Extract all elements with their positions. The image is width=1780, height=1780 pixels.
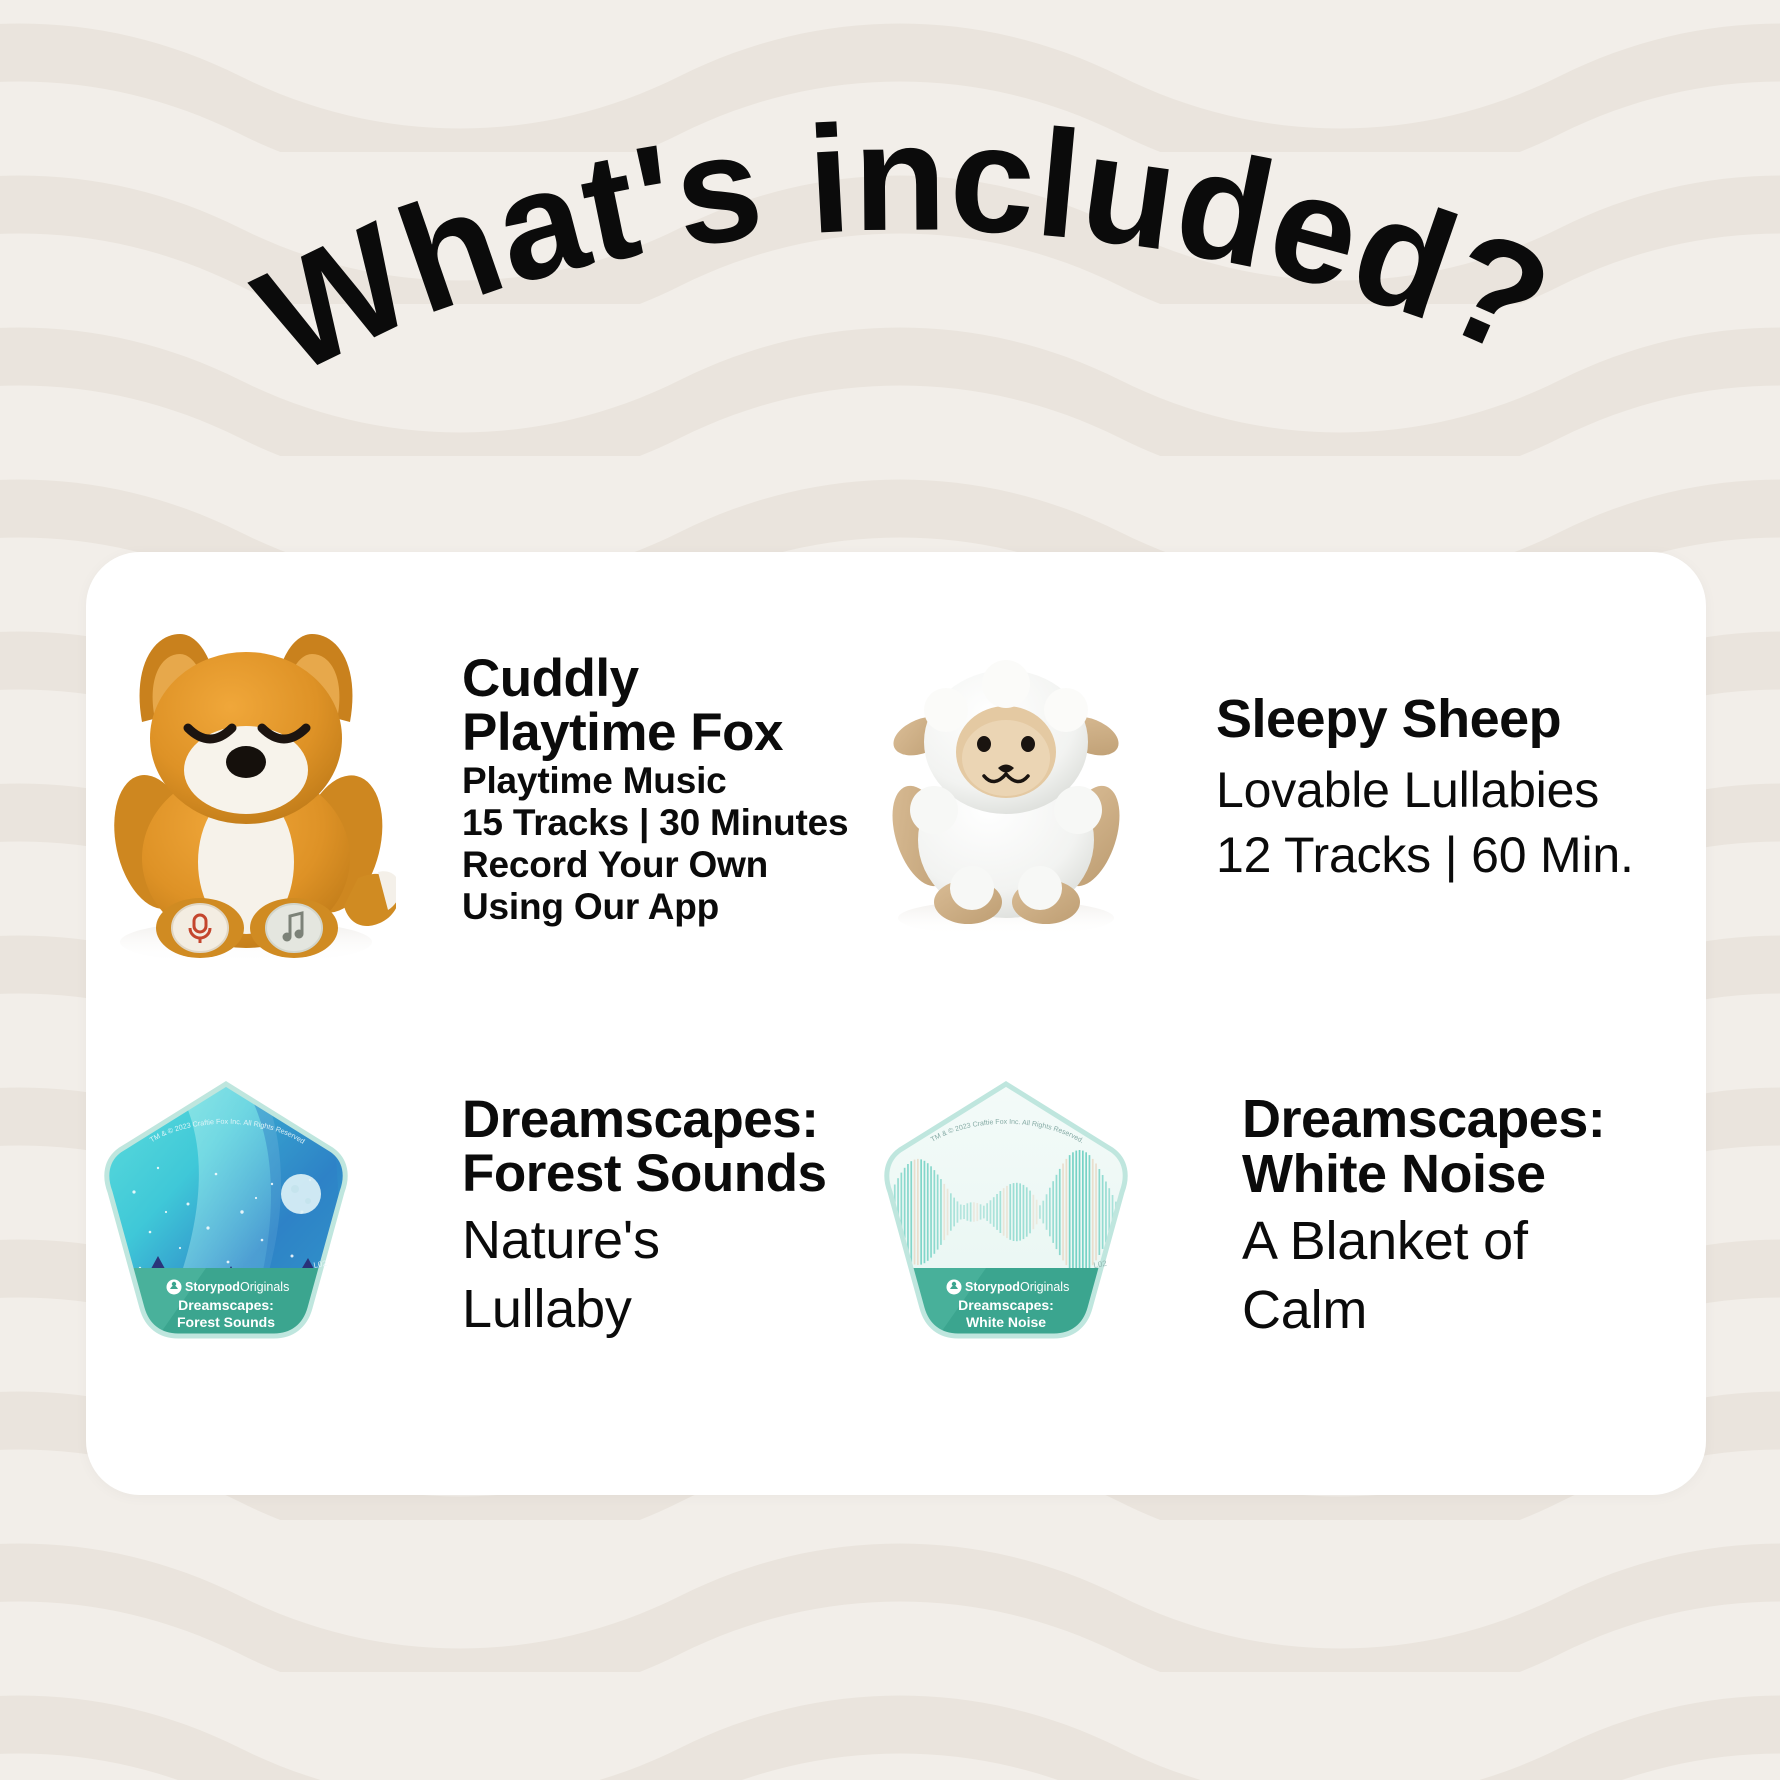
svg-text:Storypod: Storypod <box>965 1280 1020 1294</box>
plush-fox-toy <box>96 610 396 970</box>
item-sheep-title: Sleepy Sheep <box>1216 692 1686 747</box>
card-name-line-2-white-noise: White Noise <box>966 1314 1046 1330</box>
item-white-noise-title-line-2: White Noise <box>1242 1147 1686 1202</box>
infographic-root: What's included? <box>0 0 1780 1780</box>
item-cuddly-playtime-fox: Cuddly Playtime Fox Playtime Music 15 Tr… <box>96 570 886 1010</box>
storypod-originals-logo-forest: Storypod Originals <box>167 1280 290 1295</box>
music-note-button <box>266 904 322 952</box>
item-forest-copy: Dreamscapes: Forest Sounds Nature's Lull… <box>462 1093 862 1340</box>
item-fox-title-line-2: Playtime Fox <box>462 706 862 760</box>
card-code-white-noise: L02 <box>1093 1259 1108 1270</box>
item-fox-sub-line-4: Using Our App <box>462 886 862 928</box>
item-fox-copy: Cuddly Playtime Fox Playtime Music 15 Tr… <box>462 652 862 929</box>
svg-text:Storypod: Storypod <box>185 1280 240 1294</box>
item-fox-sub-line-2: 15 Tracks | 30 Minutes <box>462 802 862 844</box>
svg-text:Originals: Originals <box>1020 1280 1069 1294</box>
item-fox-sub-line-3: Record Your Own <box>462 844 862 886</box>
card-name-line-1-forest: Dreamscapes: <box>178 1297 274 1313</box>
plush-sheep-toy <box>876 640 1136 940</box>
item-sheep-copy: Sleepy Sheep Lovable Lullabies 12 Tracks… <box>1216 692 1686 887</box>
item-dreamscapes-white-noise: TM & © 2023 Craftie Fox Inc. All Rights … <box>876 1007 1686 1427</box>
record-mic-button <box>172 904 228 952</box>
item-white-noise-sub-line-1: A Blanket of <box>1242 1211 1686 1273</box>
item-forest-title-line-2: Forest Sounds <box>462 1147 862 1201</box>
item-sheep-sub-line-1: Lovable Lullabies <box>1216 758 1686 823</box>
item-forest-title-line-1: Dreamscapes: <box>462 1093 862 1147</box>
item-white-noise-title-line-1: Dreamscapes: <box>1242 1092 1686 1147</box>
page-title-text: What's included? <box>233 95 1574 407</box>
storypod-originals-logo-white-noise: Storypod Originals <box>947 1280 1070 1295</box>
svg-text:Originals: Originals <box>240 1280 289 1294</box>
item-fox-title-line-1: Cuddly <box>462 652 862 706</box>
item-fox-sub-line-1: Playtime Music <box>462 760 862 802</box>
item-forest-sub-line-1: Nature's <box>462 1210 862 1272</box>
contents-card: Cuddly Playtime Fox Playtime Music 15 Tr… <box>86 552 1706 1495</box>
item-white-noise-sub-line-2: Calm <box>1242 1280 1686 1342</box>
item-sleepy-sheep: Sleepy Sheep Lovable Lullabies 12 Tracks… <box>876 570 1686 1010</box>
item-sheep-sub-line-2: 12 Tracks | 60 Min. <box>1216 823 1686 888</box>
craftie-card-white-noise: TM & © 2023 Craftie Fox Inc. All Rights … <box>876 1072 1136 1362</box>
card-code-forest: L02 <box>313 1259 328 1270</box>
item-dreamscapes-forest-sounds: TM & © 2023 Craftie Fox Inc. All Rights … <box>96 1007 886 1427</box>
item-forest-sub-line-2: Lullaby <box>462 1279 862 1341</box>
item-white-noise-copy: Dreamscapes: White Noise A Blanket of Ca… <box>1242 1092 1686 1341</box>
craftie-card-forest-sounds: TM & © 2023 Craftie Fox Inc. All Rights … <box>96 1072 356 1362</box>
card-name-line-2-forest: Forest Sounds <box>177 1314 275 1330</box>
card-name-line-1-white-noise: Dreamscapes: <box>958 1297 1054 1313</box>
page-title: What's included? <box>0 95 1780 475</box>
